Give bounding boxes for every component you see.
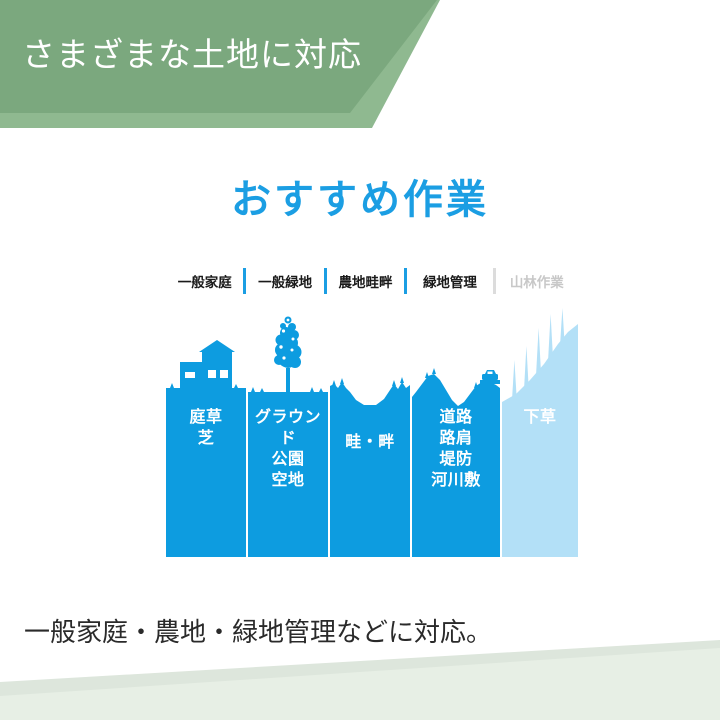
column-header-forestry: 山林作業 <box>496 265 578 297</box>
chart-body: 庭草 芝 <box>166 302 578 557</box>
column-label-line: 路肩 <box>412 428 500 449</box>
column-label-general-green: グラウンド 公園 空地 <box>248 407 328 491</box>
column-header-general-home: 一般家庭 <box>166 265 243 297</box>
column-header-general-green: 一般緑地 <box>246 265 323 297</box>
chart-header-row: 一般家庭 一般緑地 農地畦畔 緑地管理 山林作業 <box>166 265 578 297</box>
column-label-line: 畦・畔 <box>330 432 410 453</box>
header-banner: さまざまな土地に対応 <box>0 0 720 150</box>
column-label-farm-ridge: 畦・畔 <box>330 432 410 453</box>
column-label-line: 庭草 <box>166 407 246 428</box>
column-separator-3 <box>410 302 412 557</box>
caption-text: 一般家庭・農地・緑地管理などに対応。 <box>24 612 492 649</box>
chart-column-general-green: グラウンド 公園 空地 <box>248 302 328 557</box>
column-label-line: 公園 <box>248 449 328 470</box>
page-title: さまざまな土地に対応 <box>22 33 362 77</box>
column-label-general-home: 庭草 芝 <box>166 407 246 449</box>
conifer-forest-scene-icon <box>502 302 578 557</box>
column-header-farm-ridge: 農地畦畔 <box>327 265 404 297</box>
chart-column-green-management: 道路 路肩 堤防 河川敷 <box>412 302 500 557</box>
column-label-line: 道路 <box>412 407 500 428</box>
column-label-line: 空地 <box>248 470 328 491</box>
chart-column-general-home: 庭草 芝 <box>166 302 246 557</box>
column-label-green-management: 道路 路肩 堤防 河川敷 <box>412 407 500 491</box>
paddy-ridge-scene-icon <box>330 302 410 557</box>
column-label-line: 堤防 <box>412 449 500 470</box>
column-label-line: 河川敷 <box>412 470 500 491</box>
column-label-line: 下草 <box>502 407 578 428</box>
chart-column-farm-ridge: 畦・畔 <box>330 302 410 557</box>
recommended-work-chart: 一般家庭 一般緑地 農地畦畔 緑地管理 山林作業 <box>166 265 578 557</box>
column-header-green-management: 緑地管理 <box>407 265 492 297</box>
column-separator-2 <box>328 302 330 557</box>
column-label-line: 芝 <box>166 428 246 449</box>
column-separator-1 <box>246 302 248 557</box>
column-separator-4 <box>500 302 502 557</box>
chart-column-forestry: 下草 <box>502 302 578 557</box>
column-label-line: グラウンド <box>248 407 328 449</box>
chart-title: おすすめ作業 <box>0 167 720 225</box>
column-label-forestry: 下草 <box>502 407 578 428</box>
